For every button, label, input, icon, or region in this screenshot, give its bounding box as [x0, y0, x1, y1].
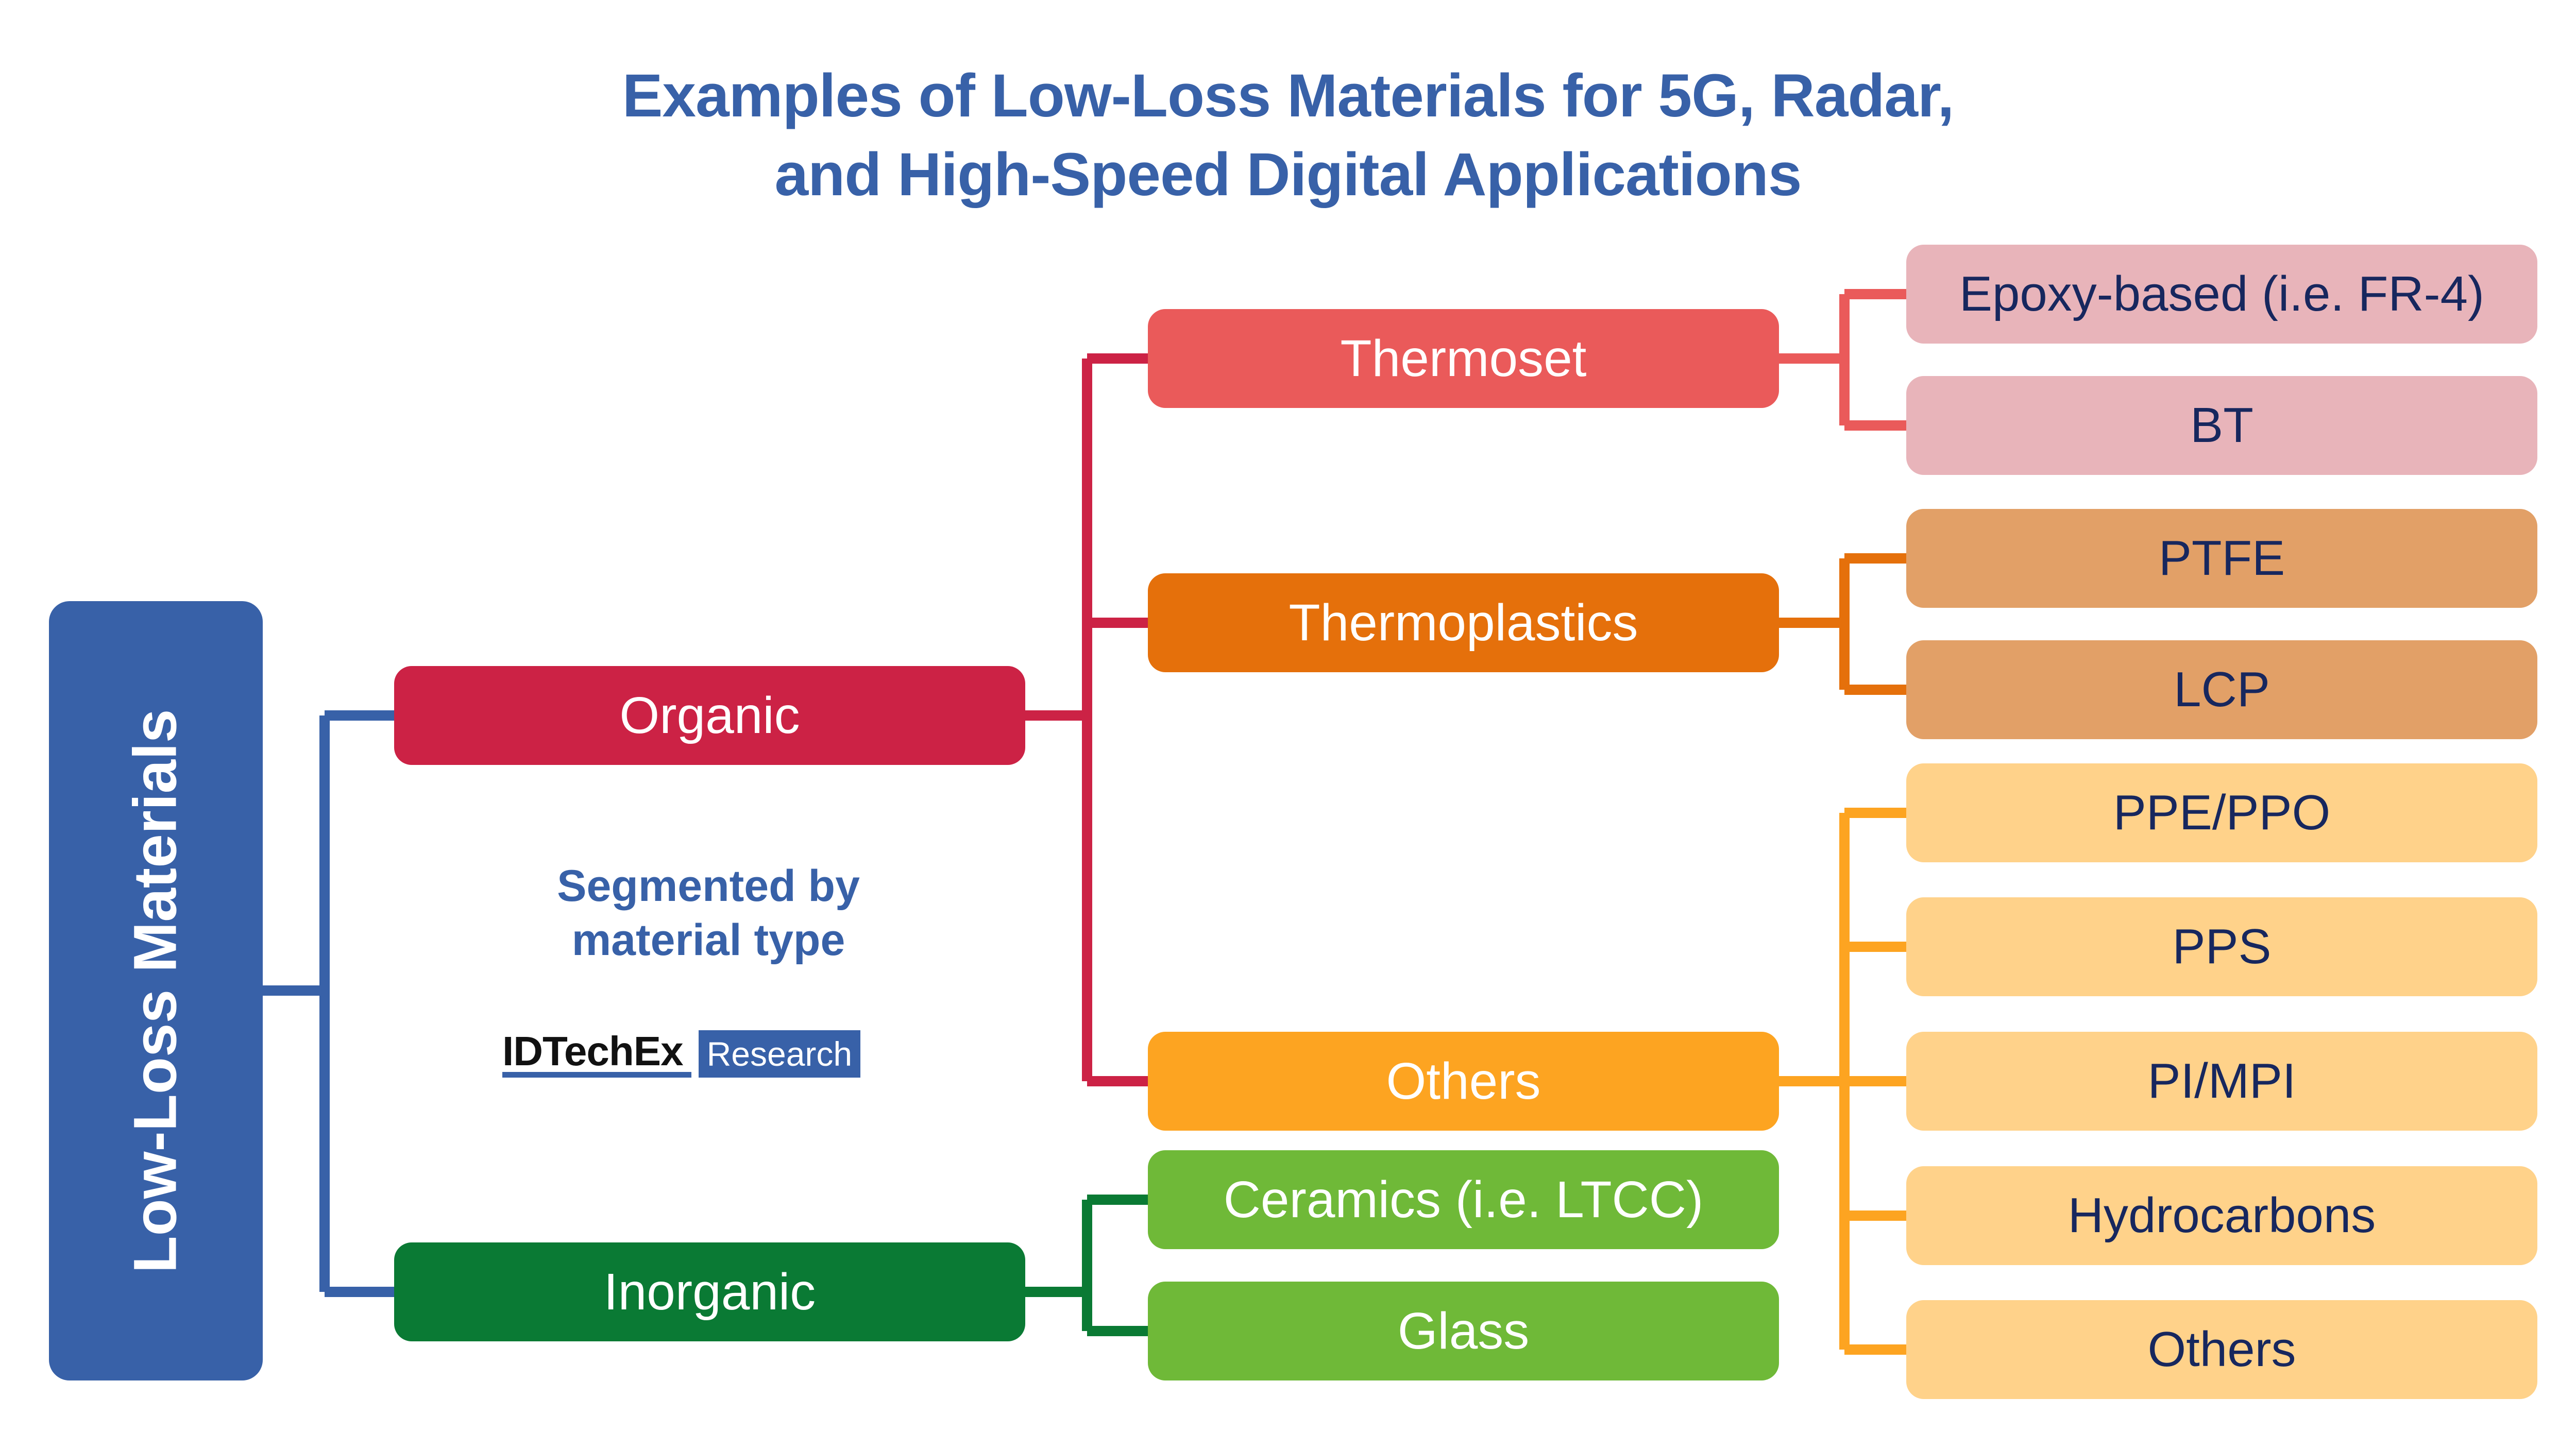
node-hydrocarbons[interactable]: Hydrocarbons	[1906, 1166, 2537, 1265]
node-bt-label: BT	[2190, 400, 2253, 452]
node-thermoplastics-label: Thermoplastics	[1289, 596, 1638, 650]
node-pps-label: PPS	[2172, 921, 2271, 973]
node-thermoset[interactable]: Thermoset	[1148, 309, 1779, 408]
caption-line-1: Segmented by	[557, 861, 860, 911]
node-glass-label: Glass	[1398, 1304, 1530, 1358]
node-thermoplastics[interactable]: Thermoplastics	[1148, 573, 1779, 672]
wire-thermoplastics-children	[1779, 558, 1906, 690]
idtechex-wordmark: IDTechEx	[502, 1030, 691, 1078]
node-ppe-ppo-label: PPE/PPO	[2113, 787, 2331, 839]
idtechex-research-badge: Research	[699, 1030, 860, 1078]
node-inorganic[interactable]: Inorganic	[394, 1242, 1025, 1341]
node-epoxy-based-label: Epoxy-based (i.e. FR-4)	[1959, 268, 2484, 320]
wire-inorganic-children	[1025, 1200, 1148, 1331]
node-organic[interactable]: Organic	[394, 666, 1025, 765]
node-ppe-ppo[interactable]: PPE/PPO	[1906, 763, 2537, 862]
node-inorganic-label: Inorganic	[604, 1265, 816, 1319]
node-others-organic-label: Others	[1386, 1054, 1540, 1109]
node-epoxy-based[interactable]: Epoxy-based (i.e. FR-4)	[1906, 245, 2537, 344]
node-others-organic[interactable]: Others	[1148, 1032, 1779, 1131]
node-hydrocarbons-label: Hydrocarbons	[2068, 1190, 2376, 1242]
node-glass[interactable]: Glass	[1148, 1282, 1779, 1380]
node-organic-label: Organic	[619, 689, 800, 743]
wire-others-children	[1779, 813, 1906, 1350]
node-ceramics[interactable]: Ceramics (i.e. LTCC)	[1148, 1150, 1779, 1249]
node-root-label: Low-Loss Materials	[124, 709, 188, 1273]
node-pi-mpi[interactable]: PI/MPI	[1906, 1032, 2537, 1131]
node-ptfe[interactable]: PTFE	[1906, 509, 2537, 608]
node-others-leaf-label: Others	[2147, 1324, 2296, 1376]
idtechex-logo: IDTechEx Research	[502, 1030, 860, 1078]
node-pps[interactable]: PPS	[1906, 897, 2537, 996]
wire-root-children	[263, 715, 394, 1292]
node-thermoset-label: Thermoset	[1341, 332, 1587, 386]
node-ptfe-label: PTFE	[2159, 533, 2285, 585]
caption-line-2: material type	[572, 915, 845, 965]
diagram-canvas: Examples of Low-Loss Materials for 5G, R…	[0, 0, 2576, 1449]
node-lcp-label: LCP	[2174, 664, 2270, 716]
wire-organic-children	[1025, 359, 1148, 1081]
node-others-leaf[interactable]: Others	[1906, 1300, 2537, 1399]
node-bt[interactable]: BT	[1906, 376, 2537, 475]
node-root[interactable]: Low-Loss Materials	[49, 601, 263, 1380]
wire-thermoset-children	[1779, 294, 1906, 425]
node-lcp[interactable]: LCP	[1906, 640, 2537, 739]
node-pi-mpi-label: PI/MPI	[2147, 1055, 2296, 1107]
segmentation-caption: Segmented by material type	[412, 859, 1005, 967]
node-ceramics-label: Ceramics (i.e. LTCC)	[1224, 1173, 1704, 1227]
